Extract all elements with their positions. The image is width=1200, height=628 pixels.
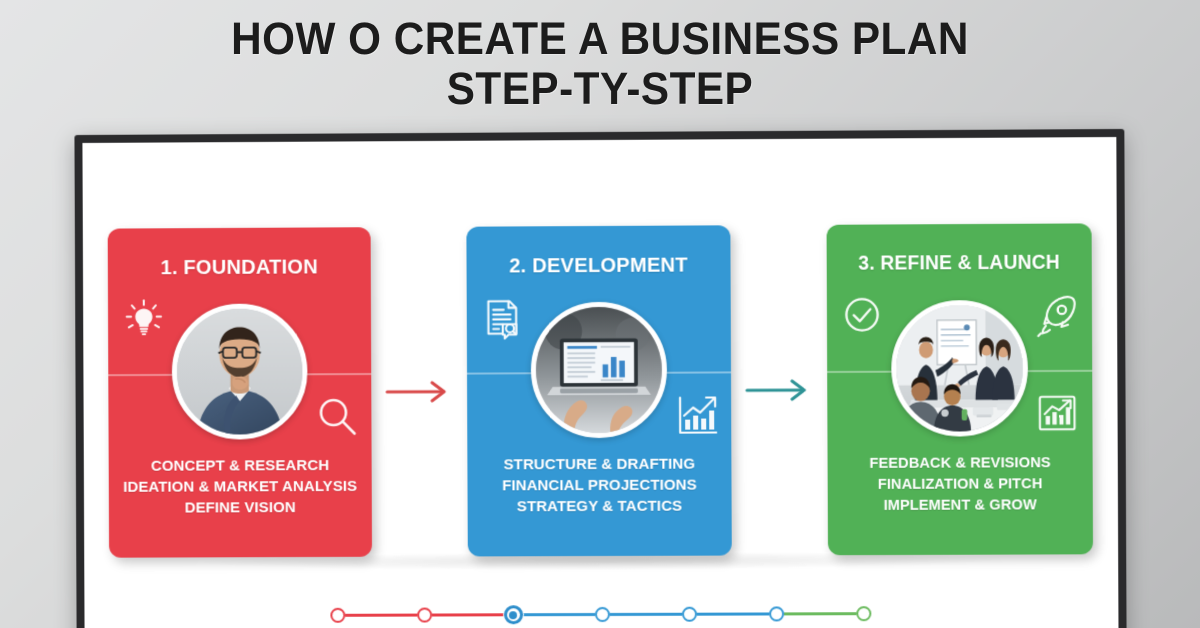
timeline-line-3 bbox=[523, 613, 595, 616]
check-circle-icon bbox=[840, 293, 886, 339]
step-card-title: 1. FOUNDATION bbox=[113, 227, 366, 280]
timeline-dot-5[interactable] bbox=[681, 607, 696, 622]
hands-typing-on-laptop-photo bbox=[536, 307, 663, 434]
timeline-line-1 bbox=[345, 614, 417, 617]
arrow-step2-to-step3 bbox=[730, 225, 828, 556]
lightbulb-icon bbox=[121, 296, 167, 342]
step-card-foundation[interactable]: 1. FOUNDATION bbox=[108, 227, 372, 557]
timeline-dot-4[interactable] bbox=[594, 607, 609, 622]
step-card-body-line: FINALIZATION & PITCH bbox=[839, 473, 1081, 495]
page-title-line-2: STEP-TY-STEP bbox=[36, 64, 1164, 114]
timeline-dot-7[interactable] bbox=[856, 606, 871, 621]
step-card-refine-launch[interactable]: 3. REFINE & LAUNCH bbox=[827, 223, 1093, 555]
document-search-icon bbox=[480, 294, 526, 340]
step-card-photo bbox=[172, 303, 308, 439]
timeline-dot-2[interactable] bbox=[417, 608, 432, 623]
step-card-body: STRUCTURE & DRAFTING FINANCIAL PROJECTIO… bbox=[479, 454, 720, 518]
step-card-title: 3. REFINE & LAUNCH bbox=[832, 223, 1087, 275]
timeline-dot-3[interactable] bbox=[503, 605, 522, 624]
arrow-step1-to-step2 bbox=[371, 227, 468, 557]
board-canvas: 1. FOUNDATION bbox=[82, 137, 1118, 628]
step-card-body-line: FEEDBACK & REVISIONS bbox=[839, 452, 1081, 474]
step-card-photo bbox=[891, 300, 1028, 437]
page-title: HOW O CREATE A BUSINESS PLAN STEP-TY-STE… bbox=[0, 14, 1200, 114]
step-card-development[interactable]: 2. DEVELOPMENT bbox=[466, 225, 731, 556]
step-card-title: 2. DEVELOPMENT bbox=[472, 225, 726, 278]
step-card-body-line: IMPLEMENT & GROW bbox=[839, 494, 1081, 516]
growth-chart-icon bbox=[1034, 390, 1082, 438]
step-card-body-line: STRUCTURE & DRAFTING bbox=[479, 454, 720, 476]
step-card-body-line: STRATEGY & TACTICS bbox=[479, 496, 720, 518]
step-card-photo bbox=[531, 302, 668, 439]
progress-timeline bbox=[84, 603, 1118, 625]
timeline-line-4 bbox=[609, 613, 681, 616]
rocket-icon bbox=[1032, 292, 1080, 340]
timeline-line-5 bbox=[697, 613, 769, 616]
step-card-body-line: DEFINE VISION bbox=[120, 497, 360, 519]
step-card-body: CONCEPT & RESEARCH IDEATION & MARKET ANA… bbox=[120, 455, 360, 519]
step-card-body: FEEDBACK & REVISIONS FINALIZATION & PITC… bbox=[839, 452, 1081, 516]
board-frame: 1. FOUNDATION bbox=[74, 129, 1126, 628]
step-card-body-line: CONCEPT & RESEARCH bbox=[120, 455, 360, 477]
thinking-businessman-photo bbox=[177, 308, 303, 434]
timeline-dot-6[interactable] bbox=[769, 606, 784, 621]
growth-chart-icon bbox=[673, 391, 721, 439]
page-title-line-1: HOW O CREATE A BUSINESS PLAN bbox=[36, 14, 1164, 64]
step-card-body-line: FINANCIAL PROJECTIONS bbox=[479, 475, 720, 497]
magnifier-icon bbox=[313, 393, 361, 441]
step-card-body-line: IDEATION & MARKET ANALYSIS bbox=[120, 476, 360, 498]
steps-row: 1. FOUNDATION bbox=[83, 223, 1118, 567]
timeline-line-2 bbox=[432, 614, 504, 617]
team-meeting-presentation-photo bbox=[896, 305, 1023, 432]
timeline-dot-1[interactable] bbox=[330, 608, 345, 623]
timeline-line-6 bbox=[784, 612, 856, 615]
